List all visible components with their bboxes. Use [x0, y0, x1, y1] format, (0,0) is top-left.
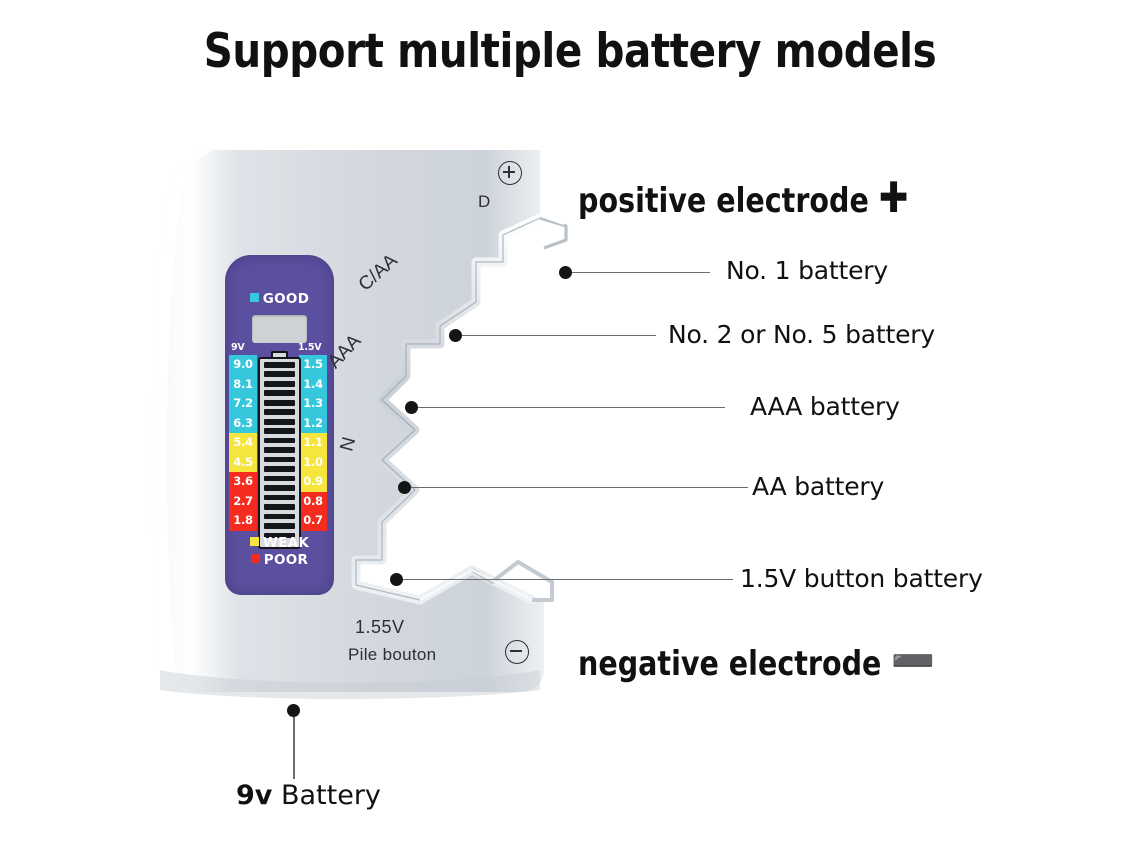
positive-electrode-text: positive electrode [578, 181, 869, 221]
callout-leader-no-2-or-no-5-battery [462, 335, 656, 336]
plus-polarity-icon [498, 161, 522, 185]
scale-tick: 1.1 [299, 433, 327, 453]
lcd-panel: GOOD 9V 1.5V 9.08.17.26.35.44.53.62.71.8… [225, 255, 334, 595]
battery-glyph-segment [264, 419, 295, 425]
callout-leader-aaa-battery [418, 407, 725, 408]
callout-label-aa-battery: AA battery [752, 472, 884, 501]
left-scale-unit: 9V [231, 342, 245, 353]
callout-dot-button-battery [390, 573, 403, 586]
scale-tick: 0.8 [299, 492, 327, 512]
battery-glyph-segment [264, 447, 295, 453]
battery-glyph-segment [264, 485, 295, 491]
status-good-label: GOOD [263, 291, 309, 307]
lcd-readout-window [252, 315, 307, 343]
good-swatch [250, 293, 259, 302]
callout-dot-aaa-battery [405, 401, 418, 414]
battery-glyph-segment [264, 362, 295, 368]
scale-tick: 0.7 [299, 511, 327, 531]
minus-sign-icon: ➖ [891, 636, 935, 685]
battery-glyph-segment [264, 409, 295, 415]
battery-glyph-segment [264, 390, 295, 396]
callout-dot-no-2-or-no-5-battery [449, 329, 462, 342]
battery-glyph-segment [264, 523, 295, 529]
scale-tick: 1.0 [299, 453, 327, 473]
scale-tick: 0.9 [299, 472, 327, 492]
plus-sign-icon: ✚ [879, 173, 909, 222]
callout-leader-aa-battery [411, 487, 748, 488]
label-button-voltage: 1.55V [355, 617, 405, 638]
status-poor: POOR [225, 552, 334, 568]
callout-dot-no-1-battery [559, 266, 572, 279]
status-weak: WEAK [225, 535, 334, 551]
battery-glyph-segment [264, 504, 295, 510]
battery-glyph-segment [264, 400, 295, 406]
scale-tick: 1.3 [299, 394, 327, 414]
scale-tick: 2.7 [229, 492, 257, 512]
battery-glyph-segment [264, 514, 295, 520]
battery-glyph-segment [264, 428, 295, 434]
poor-swatch [251, 554, 260, 563]
weak-swatch [250, 537, 259, 546]
scale-tick: 6.3 [229, 414, 257, 434]
scale-tick: 1.8 [229, 511, 257, 531]
page-root: Support multiple battery models [0, 0, 1140, 855]
right-voltage-scale: 1.51.41.31.21.11.00.90.80.7 [299, 355, 327, 531]
label-size-d: D [478, 192, 490, 212]
scale-tick: 4.5 [229, 453, 257, 473]
battery-glyph-segment [264, 457, 295, 463]
label-pile-bouton: Pile bouton [348, 645, 436, 665]
battery-glyph-body [258, 357, 301, 549]
callout-leader-9v-battery [293, 717, 295, 779]
left-voltage-scale: 9.08.17.26.35.44.53.62.71.8 [229, 355, 257, 531]
9v-bold-text: 9v [236, 780, 272, 811]
scale-tick: 1.4 [299, 375, 327, 395]
negative-electrode-heading: negative electrode ➖ [578, 636, 935, 686]
scale-tick: 8.1 [229, 375, 257, 395]
battery-glyph-segment [264, 466, 295, 472]
battery-tester-device: GOOD 9V 1.5V 9.08.17.26.35.44.53.62.71.8… [120, 130, 600, 710]
scale-tick: 7.2 [229, 394, 257, 414]
callout-label-no-2-or-no-5-battery: No. 2 or No. 5 battery [668, 320, 935, 349]
page-title: Support multiple battery models [80, 24, 1060, 79]
battery-glyph-segment [264, 438, 295, 444]
battery-level-glyph [258, 351, 301, 549]
right-scale-unit: 1.5V [298, 342, 321, 353]
callout-leader-button-battery [403, 579, 733, 580]
positive-electrode-heading: positive electrode ✚ [578, 173, 908, 222]
callout-label-9v-battery: 9v Battery [236, 780, 381, 811]
scale-tick: 3.6 [229, 472, 257, 492]
battery-glyph-segment [264, 371, 295, 377]
battery-glyph-segment [264, 476, 295, 482]
callout-label-button-battery: 1.5V button battery [740, 564, 983, 593]
callout-label-no-1-battery: No. 1 battery [726, 256, 888, 285]
callout-dot-aa-battery [398, 481, 411, 494]
status-poor-label: POOR [264, 552, 308, 568]
battery-glyph-segment [264, 495, 295, 501]
callout-dot-9v-battery [287, 704, 300, 717]
scale-tick: 1.2 [299, 414, 327, 434]
minus-polarity-icon [505, 640, 529, 664]
negative-electrode-text: negative electrode [578, 644, 881, 684]
scale-tick: 9.0 [229, 355, 257, 375]
scale-tick: 5.4 [229, 433, 257, 453]
battery-glyph-segment [264, 381, 295, 387]
callout-label-aaa-battery: AAA battery [750, 392, 900, 421]
callout-leader-no-1-battery [572, 272, 710, 273]
status-weak-label: WEAK [263, 535, 309, 551]
9v-rest-text: Battery [272, 780, 381, 811]
status-good: GOOD [225, 291, 334, 307]
